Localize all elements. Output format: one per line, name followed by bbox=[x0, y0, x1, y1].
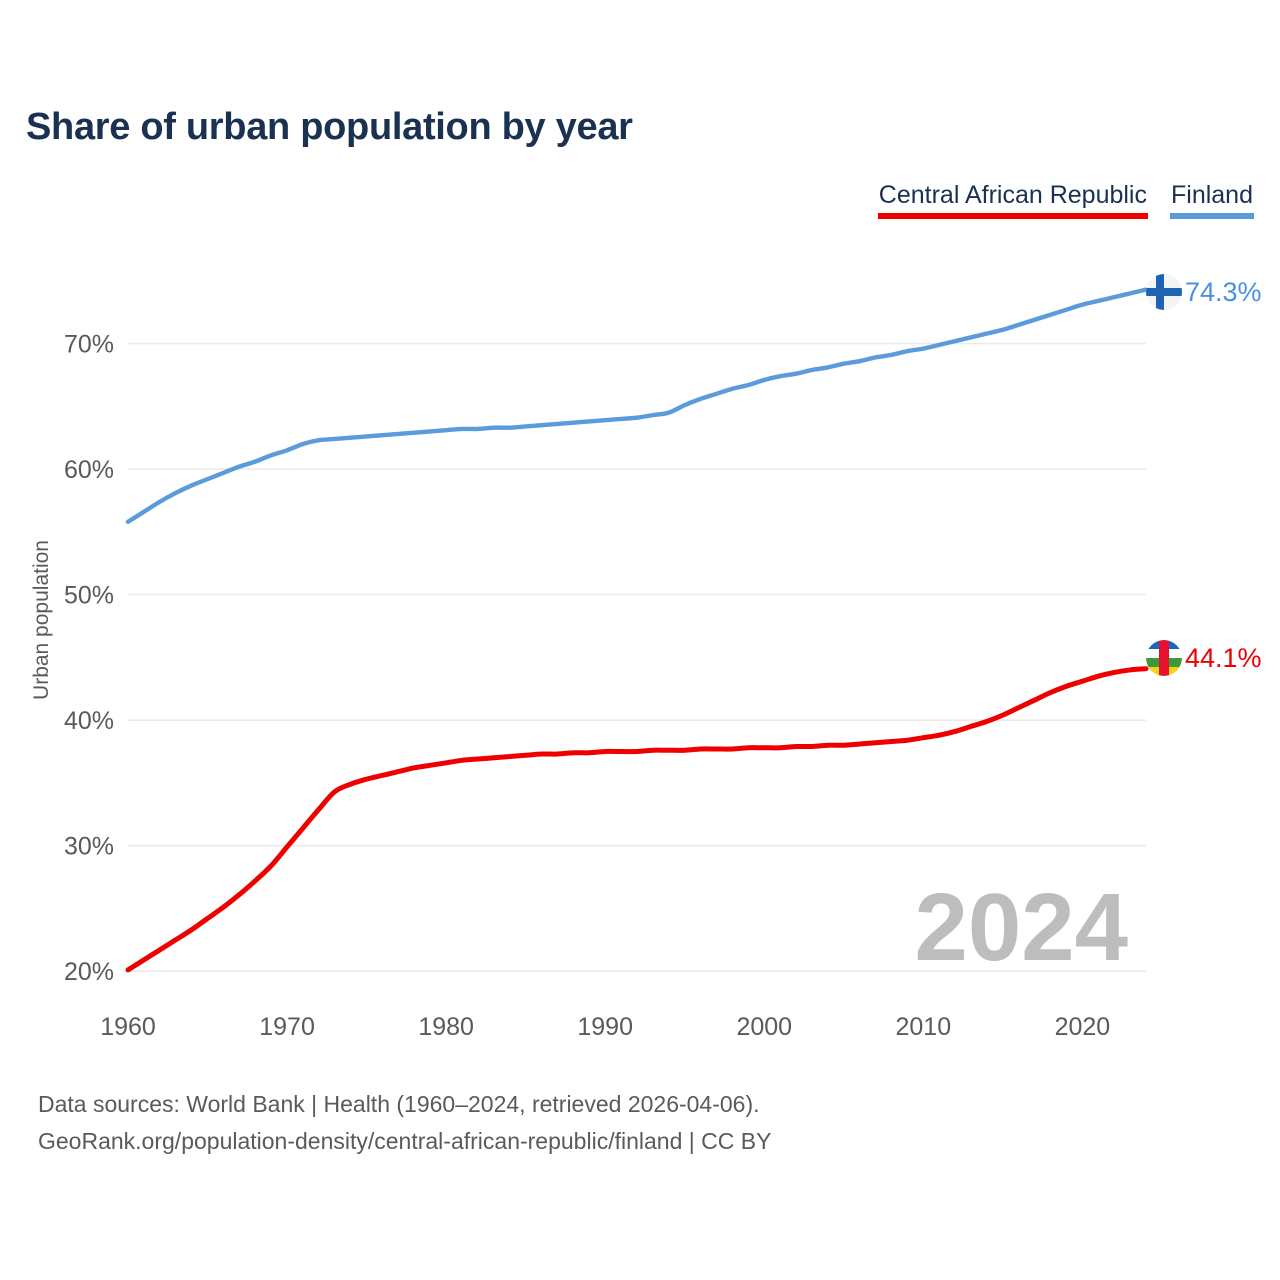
y-tick-label: 40% bbox=[64, 707, 114, 735]
footer-line-data-sources: Data sources: World Bank | Health (1960–… bbox=[38, 1086, 771, 1123]
series-line-finland bbox=[128, 290, 1146, 522]
x-tick-label: 1960 bbox=[100, 1013, 156, 1041]
y-tick-label: 60% bbox=[64, 456, 114, 484]
x-tick-label: 1990 bbox=[577, 1013, 633, 1041]
y-tick-label: 50% bbox=[64, 582, 114, 610]
endpoint-finland: 74.3% bbox=[1146, 274, 1262, 310]
finland-flag-icon bbox=[1146, 274, 1182, 310]
y-axis-tick-labels: 20%30%40%50%60%70% bbox=[64, 331, 114, 987]
y-tick-label: 70% bbox=[64, 331, 114, 359]
y-axis-title: Urban population bbox=[30, 540, 53, 700]
endpoint-value-finland: 74.3% bbox=[1182, 279, 1262, 306]
y-tick-label: 30% bbox=[64, 833, 114, 861]
endpoint-value-central-african-republic: 44.1% bbox=[1182, 645, 1262, 672]
year-watermark: 2024 bbox=[914, 874, 1128, 981]
x-tick-label: 2020 bbox=[1055, 1013, 1111, 1041]
y-tick-label: 20% bbox=[64, 958, 114, 986]
endpoint-central-african-republic: 44.1% bbox=[1146, 640, 1262, 676]
data-series-lines bbox=[128, 290, 1146, 970]
x-tick-label: 1970 bbox=[259, 1013, 315, 1041]
footer-sources: Data sources: World Bank | Health (1960–… bbox=[38, 1086, 771, 1161]
footer-line-attribution: GeoRank.org/population-density/central-a… bbox=[38, 1123, 771, 1160]
central-african-republic-flag-icon bbox=[1146, 640, 1182, 676]
x-axis-tick-labels: 1960197019801990200020102020 bbox=[100, 1013, 1110, 1041]
x-tick-label: 2000 bbox=[736, 1013, 792, 1041]
x-tick-label: 2010 bbox=[896, 1013, 952, 1041]
chart-page: Share of urban population by year Centra… bbox=[0, 0, 1280, 1280]
x-tick-label: 1980 bbox=[418, 1013, 474, 1041]
